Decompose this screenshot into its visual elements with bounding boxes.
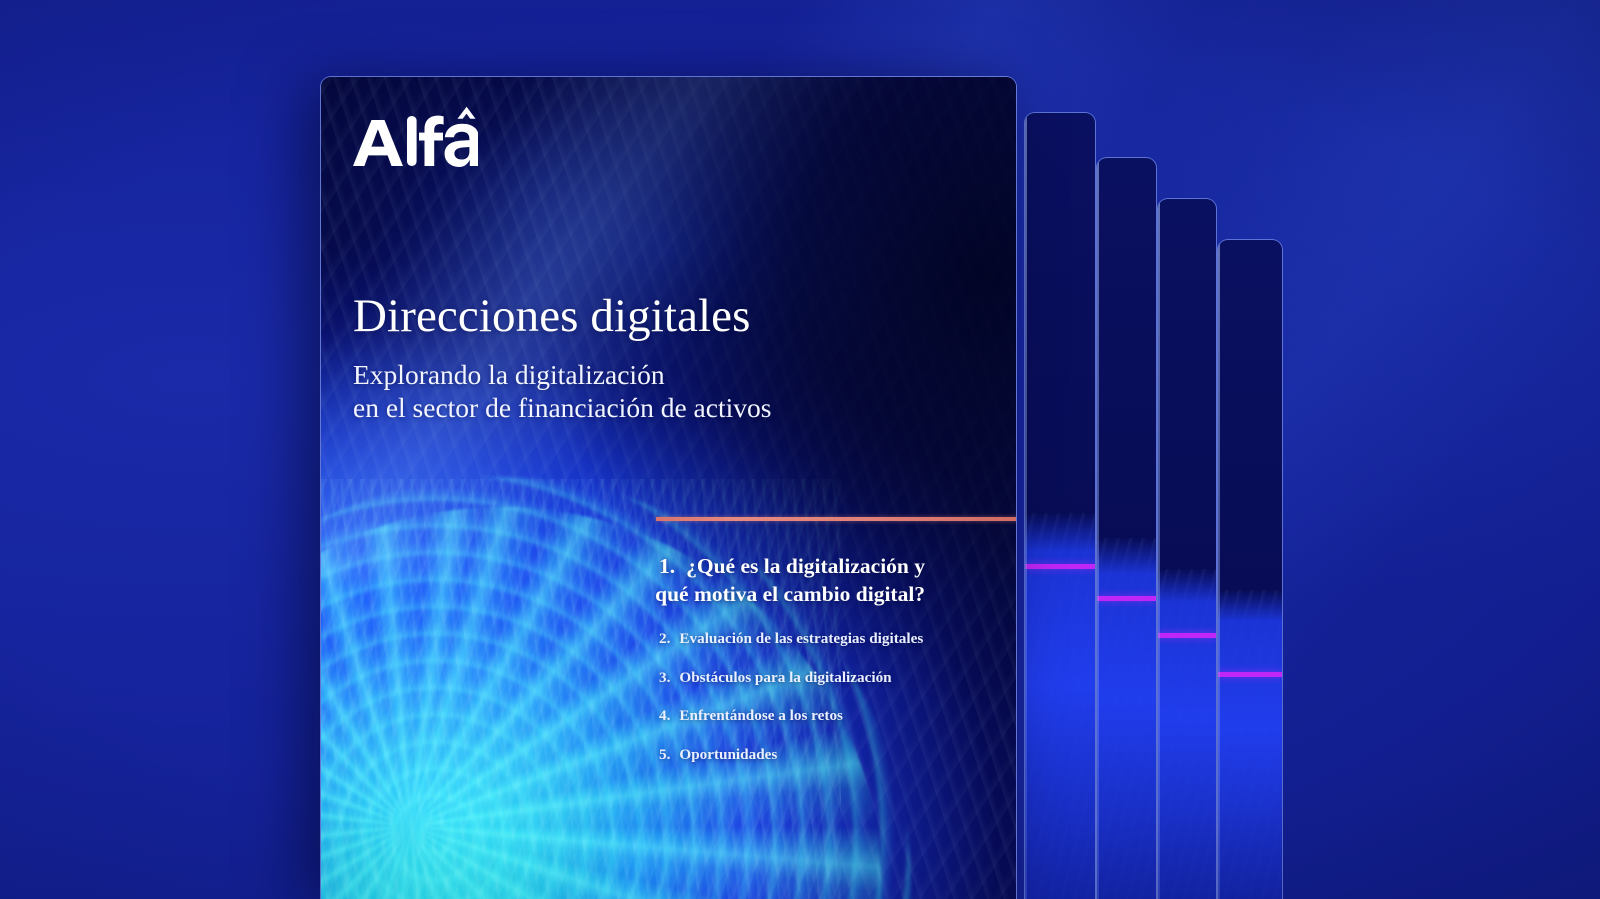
contents-item-label: Evaluación de las estrategias digitales [679, 629, 1004, 649]
cover-content: Direcciones digitales Explorando la digi… [321, 77, 1016, 899]
contents-item-number: 2. [659, 629, 670, 649]
stacked-page-5[interactable] [1217, 239, 1283, 899]
stacked-page-glow [1218, 590, 1282, 899]
logo-letter-a-uppercase [353, 120, 403, 166]
stacked-page-2[interactable] [1024, 112, 1096, 899]
page-title: Direcciones digitales [353, 292, 993, 342]
stacked-page-glow [1025, 513, 1095, 899]
stacked-page-accent-rule [1218, 672, 1282, 677]
contents-item-label: Oportunidades [679, 745, 1004, 765]
contents-item-3[interactable]: 3.Obstáculos para la digitalización [659, 668, 1004, 688]
contents-item-4[interactable]: 4.Enfrentándose a los retos [659, 706, 1004, 726]
contents-item-1[interactable]: 1.¿Qué es la digitalización yqué motiva … [659, 553, 1004, 609]
page-subtitle-line-1: Explorando la digitalización [353, 358, 993, 391]
contents-item-number: 4. [659, 706, 670, 726]
page-subtitle: Explorando la digitalización en el secto… [353, 358, 993, 424]
contents-item-label-line-2: qué motiva el cambio digital? [655, 581, 1004, 609]
title-block: Direcciones digitales Explorando la digi… [353, 292, 993, 424]
stacked-page-glow [1158, 569, 1216, 899]
logo-letter-l [407, 116, 417, 166]
poster-canvas: Direcciones digitales Explorando la digi… [0, 0, 1600, 899]
contents-item-number: 5. [659, 745, 670, 765]
contents-item-number: 3. [659, 668, 670, 688]
coral-divider [656, 517, 1017, 521]
contents-item-number: 1. [659, 553, 675, 581]
contents-item-2[interactable]: 2.Evaluación de las estrategias digitale… [659, 629, 1004, 649]
stacked-page-glow [1097, 538, 1156, 899]
stacked-page-edge [1025, 113, 1027, 899]
logo-letter-a-lowercase [445, 124, 478, 167]
alfa-logo[interactable] [353, 106, 478, 168]
stacked-page-4[interactable] [1157, 198, 1217, 899]
stacked-page-accent-rule [1025, 564, 1095, 569]
stacked-page-accent-rule [1097, 596, 1156, 601]
contents-list: 1.¿Qué es la digitalización yqué motiva … [659, 553, 1004, 765]
page-subtitle-line-2: en el sector de financiación de activos [353, 391, 993, 424]
contents-item-label: ¿Qué es la digitalización yqué motiva el… [686, 553, 1004, 609]
stacked-page-3[interactable] [1096, 157, 1157, 899]
cover-card[interactable]: Direcciones digitales Explorando la digi… [320, 76, 1017, 899]
stacked-page-accent-rule [1158, 633, 1216, 638]
logo-letter-f [419, 116, 444, 166]
stacked-page-edge [1218, 240, 1220, 899]
contents-item-label: Enfrentándose a los retos [679, 706, 1004, 726]
contents-item-5[interactable]: 5.Oportunidades [659, 745, 1004, 765]
caret-icon [458, 107, 476, 119]
stacked-page-edge [1158, 199, 1160, 899]
contents-item-label: Obstáculos para la digitalización [679, 668, 1004, 688]
contents-item-label-line-1: ¿Qué es la digitalización y [686, 553, 1004, 581]
stacked-page-edge [1097, 158, 1099, 899]
